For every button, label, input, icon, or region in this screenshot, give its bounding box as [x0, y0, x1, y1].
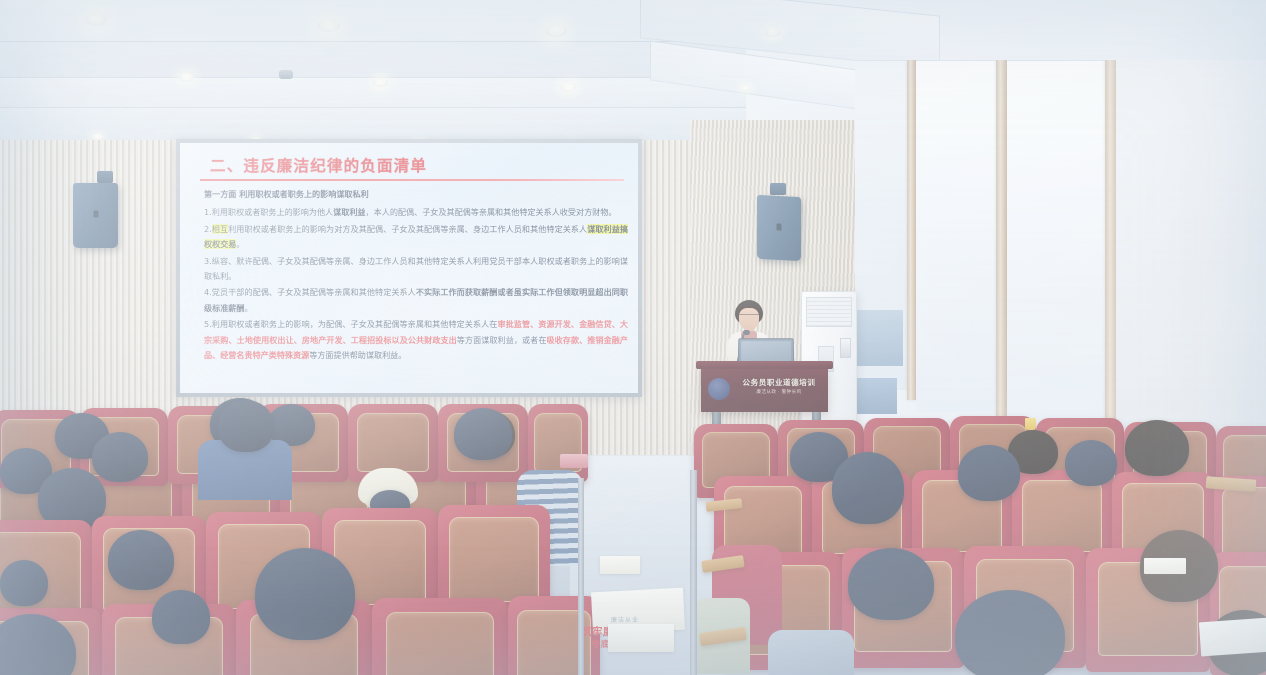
- microphone-icon: [743, 330, 750, 335]
- ceiling-downlight: [545, 24, 567, 37]
- slide-heading: 二、违反廉洁纪律的负面清单: [210, 154, 427, 176]
- paper: [600, 556, 640, 574]
- slide-lead: 第一方面 利用职权或者职务上的影响谋取私利: [204, 187, 628, 202]
- attendee-head: [958, 445, 1020, 501]
- slide-item-1: 1.利用职权或者职务上的影响为他人谋取利益，本人的配偶、子女及其配偶等亲属和其他…: [204, 205, 628, 220]
- projection-screen: 二、违反廉洁纪律的负面清单 第一方面 利用职权或者职务上的影响谋取私利 1.利用…: [176, 139, 642, 397]
- slide-item-3: 3.纵容、默许配偶、子女及其配偶等亲属、身边工作人员和其他特定关系人利用党员干部…: [204, 254, 628, 285]
- attendee-head: [832, 452, 904, 524]
- wall-speaker-left: [73, 183, 118, 248]
- wall-speaker-right: [757, 195, 801, 261]
- cup-on-ledge: [1025, 418, 1036, 430]
- podium-banner-sub: 廉洁从政 · 警钟长鸣: [735, 389, 823, 395]
- item-on-ledge: [560, 454, 588, 468]
- window-lower-panel: [855, 310, 903, 366]
- attendee-head: [955, 590, 1065, 675]
- ceiling-downlight: [318, 19, 340, 32]
- attendee-head: [1065, 440, 1117, 486]
- ceiling-downlight: [179, 73, 194, 82]
- attendee-head: [255, 548, 355, 640]
- attendee-head: [218, 400, 274, 452]
- window-mullion: [996, 60, 1007, 422]
- projected-slide: 二、违反廉洁纪律的负面清单 第一方面 利用职权或者职务上的影响谋取私利 1.利用…: [180, 143, 638, 393]
- attendee-head: [1125, 420, 1189, 476]
- window-mullion: [907, 60, 916, 400]
- slide-item-2: 2.相互利用职权或者职务上的影响为对方及其配偶、子女及其配偶等亲属、身边工作人员…: [204, 222, 628, 253]
- ceiling-downlight: [373, 78, 388, 87]
- ceiling-downlight: [765, 28, 780, 37]
- lecture-hall-photo: 二、违反廉洁纪律的负面清单 第一方面 利用职权或者职务上的影响谋取私利 1.利用…: [0, 0, 1266, 675]
- podium: 公务员职业道德培训 廉洁从政 · 警钟长鸣: [701, 366, 828, 412]
- attendee-head: [152, 590, 210, 644]
- paper-on-desk: [1144, 558, 1186, 574]
- ceiling-downlight: [561, 83, 576, 92]
- slide-item-4: 4.党员干部的配偶、子女及其配偶等亲属和其他特定关系人不实际工作而获取薪酬或者虽…: [204, 285, 628, 316]
- presenter-glasses: [739, 314, 759, 318]
- seat-rail: [578, 478, 584, 675]
- paper-on-desk: [608, 624, 674, 652]
- ac-display: [840, 338, 851, 358]
- smoke-detector: [279, 70, 293, 79]
- paper-on-desk: [1199, 618, 1266, 657]
- podium-emblem-icon: [708, 378, 730, 400]
- seat-rail: [690, 470, 697, 675]
- ac-grille: [806, 297, 852, 327]
- attendee-head: [848, 548, 934, 620]
- slide-title-rule: [200, 179, 624, 181]
- attendee-head: [0, 560, 48, 606]
- slide-item-5: 5.利用职权或者职务上的影响，为配偶、子女及其配偶等亲属和其他特定关系人在审批监…: [204, 317, 628, 363]
- ceiling-downlight: [85, 13, 107, 26]
- attendee-head: [92, 432, 148, 482]
- ceiling-downlight: [740, 85, 751, 91]
- attendee-head: [108, 530, 174, 590]
- attendee-torso: [768, 630, 854, 675]
- podium-banner-main: 公务员职业道德培训: [735, 377, 823, 388]
- speaker-bracket: [770, 183, 786, 195]
- seat[interactable]: [372, 598, 508, 675]
- slide-body: 第一方面 利用职权或者职务上的影响谋取私利 1.利用职权或者职务上的影响为他人谋…: [204, 187, 628, 364]
- window-lower-panel: [855, 378, 897, 414]
- speaker-bracket: [97, 171, 113, 183]
- attendee-head: [454, 408, 512, 460]
